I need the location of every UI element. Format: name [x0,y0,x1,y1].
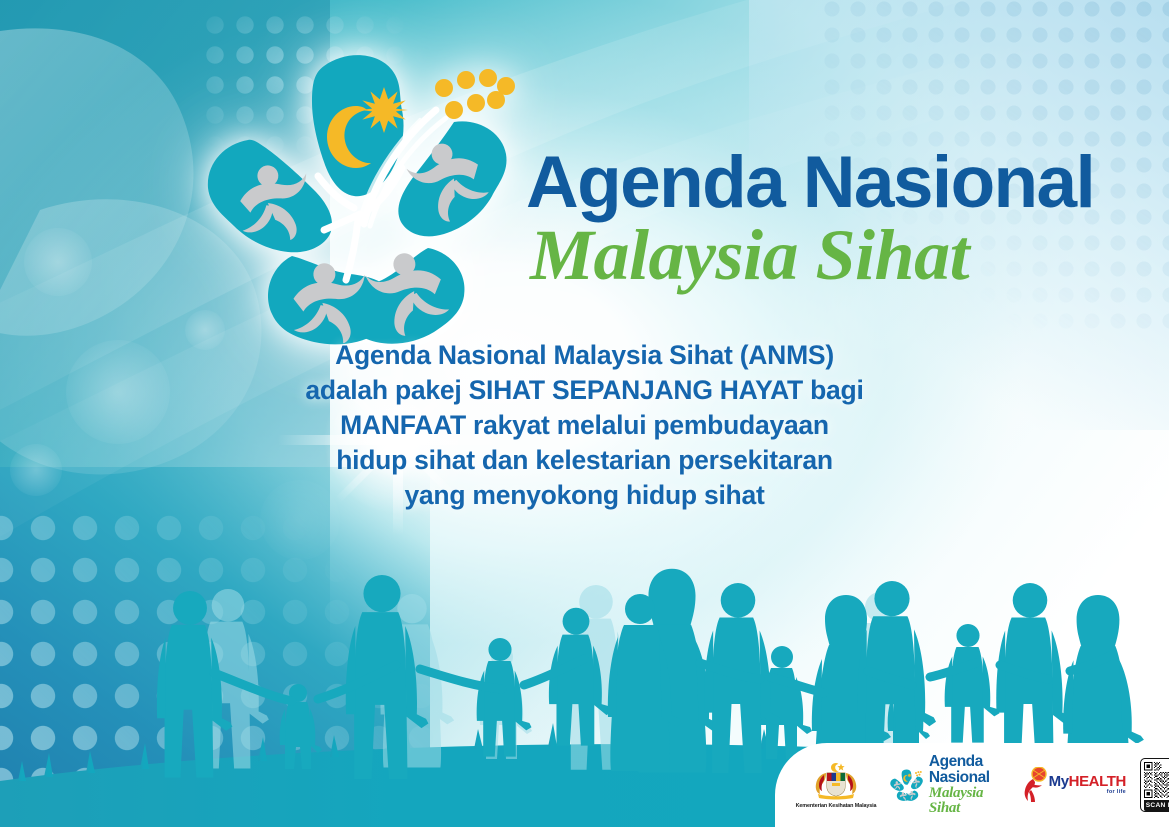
footer-logo-bar: Kementerian Kesihatan Malaysia [775,743,1169,827]
scan-me-qr-block[interactable]: SCAN ME [1140,758,1169,812]
anms-logo-small: Agenda Nasional Malaysia Sihat [889,754,1008,816]
jata-negara-coat-of-arms-icon [813,761,859,801]
description-line: Agenda Nasional Malaysia Sihat (ANMS) [0,338,1169,373]
myhealth-logo: MyHEALTH for life [1022,767,1126,803]
description-line: adalah pakej SIHAT SEPANJANG HAYAT bagi [0,373,1169,408]
myhealth-runner-icon [1022,767,1048,803]
description-line: hidup sihat dan kelestarian persekitaran [0,443,1169,478]
brand-title-line1: Agenda Nasional [526,148,1146,217]
brand-title: Agenda Nasional Malaysia Sihat [526,148,1146,291]
brand-title-line2: Malaysia Sihat [530,219,1146,291]
scan-me-label: SCAN ME [1144,800,1169,811]
poster-canvas: Agenda Nasional Malaysia Sihat Agenda Na… [0,0,1169,827]
brand-lockup: Agenda Nasional Malaysia Sihat [196,48,1156,358]
ministry-caption: Kementerian Kesihatan Malaysia [796,803,877,809]
description-paragraph: Agenda Nasional Malaysia Sihat (ANMS) ad… [0,338,1169,513]
qr-code-icon[interactable] [1144,762,1169,798]
description-line: MANFAAT rakyat melalui pembudayaan [0,408,1169,443]
myhealth-health-text: HEALTH [1069,773,1126,790]
myhealth-tagline: for life [1049,790,1126,796]
anms-small-line2: Malaysia Sihat [929,786,1008,816]
hibiscus-flower-icon [196,48,526,348]
anms-small-line1: Agenda Nasional [929,754,1008,785]
myhealth-my-text: My [1049,773,1069,790]
hibiscus-flower-icon [889,762,925,808]
ministry-logo: Kementerian Kesihatan Malaysia [797,761,875,809]
description-line: yang menyokong hidup sihat [0,478,1169,513]
